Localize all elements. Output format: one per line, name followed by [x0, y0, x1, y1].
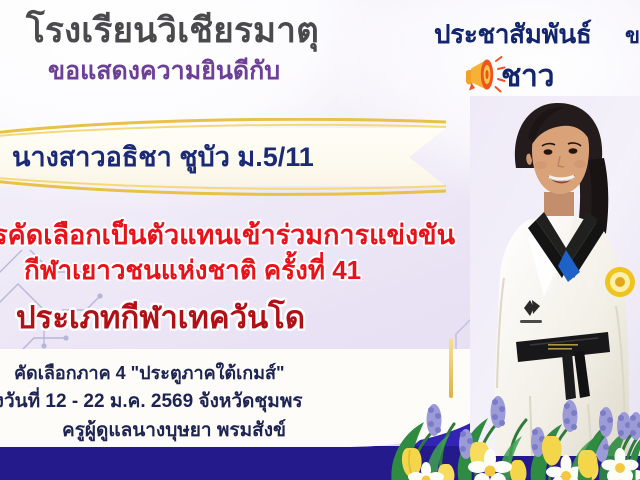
- public-relations-title-overflow: ข: [625, 18, 640, 53]
- details-line-3: ครูผู้ดูแลนางบุษยา พรมสังข์: [62, 415, 286, 445]
- gold-accent-bar: [449, 338, 453, 398]
- details-line-1: คัดเลือกภาค 4 "ประตูภาคใต้เกมส์": [14, 358, 285, 387]
- public-relations-title: ประชาสัมพันธ์: [434, 14, 591, 55]
- megaphone-icon: [460, 52, 506, 94]
- achievement-line-2: กีฬาเยาวชนแห่งชาติ ครั้งที่ 41: [24, 250, 361, 291]
- public-relations-subtitle: ชาว: [501, 53, 554, 100]
- school-name: โรงเรียนวิเชียรมาตุ: [26, 11, 319, 51]
- honoree-name: นางสาวอธิชา ชูบัว ม.5/11: [12, 140, 432, 174]
- student-photo: [470, 96, 640, 456]
- congratulation-poster: โรงเรียนวิเชียรมาตุ ขอแสดงความยินดีกับ ป…: [0, 0, 640, 480]
- achievement-sport-type: ประเภทกีฬาเทควันโด: [16, 292, 305, 342]
- congratulation-subtitle: ขอแสดงความยินดีกับ: [48, 56, 280, 86]
- details-line-2: างวันที่ 12 - 22 ม.ค. 2569 จังหวัดชุมพร: [0, 386, 303, 416]
